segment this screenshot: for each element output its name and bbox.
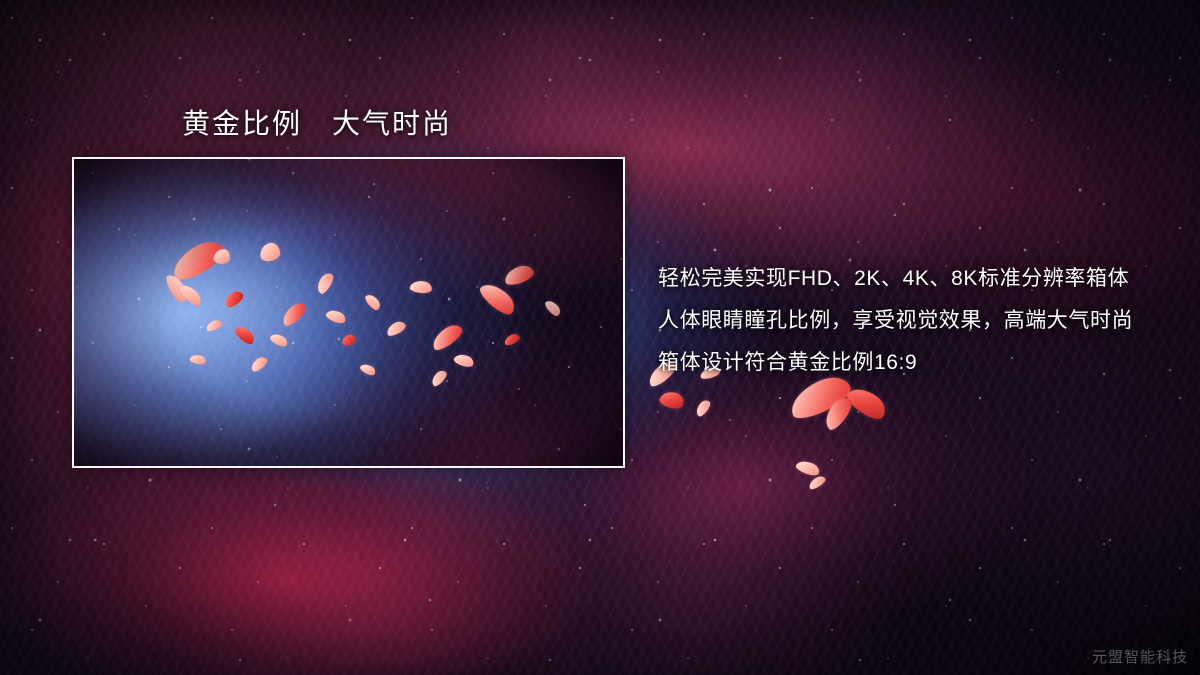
description-line: 人体眼睛瞳孔比例，享受视觉效果，高端大气时尚	[658, 300, 1158, 342]
page-title: 黄金比例 大气时尚	[182, 102, 452, 142]
presentation-slide: 黄金比例 大气时尚 轻松完美实现FHD、2K、4K、8K标准分辨率箱体 人体眼睛…	[0, 0, 1200, 675]
watermark-text: 元盟智能科技	[1092, 646, 1188, 667]
description-line: 箱体设计符合黄金比例16:9	[658, 342, 1158, 384]
description-text-block: 轻松完美实现FHD、2K、4K、8K标准分辨率箱体 人体眼睛瞳孔比例，享受视觉效…	[658, 258, 1158, 384]
description-line: 轻松完美实现FHD、2K、4K、8K标准分辨率箱体	[658, 258, 1158, 300]
framed-image-panel[interactable]	[72, 157, 625, 468]
framed-image-vignette	[74, 159, 623, 466]
framed-image-content	[74, 159, 623, 466]
